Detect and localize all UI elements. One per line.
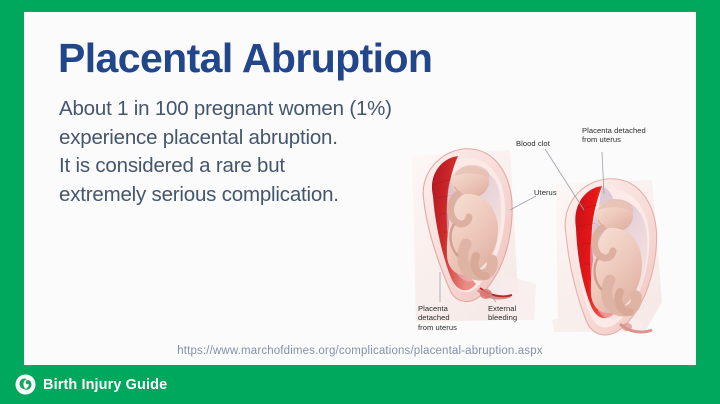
- label-placenta-detached-top: Placenta detached from uterus: [582, 126, 646, 145]
- source-url[interactable]: https://www.marchofdimes.org/complicatio…: [24, 345, 696, 357]
- body-copy: About 1 in 100 pregnant women (1%) exper…: [59, 95, 419, 209]
- brand-name: Birth Injury Guide: [43, 377, 167, 393]
- label-blood-clot: Blood clot: [516, 139, 550, 148]
- figure-right: [552, 179, 662, 335]
- infographic-card: Placental Abruption About 1 in 100 pregn…: [0, 0, 720, 404]
- label-external-bleeding: External bleeding: [488, 304, 517, 323]
- figure-left: [412, 149, 536, 322]
- body-line-4: extremely serious complication.: [59, 181, 419, 210]
- label-uterus: Uterus: [534, 188, 557, 197]
- body-line-1: About 1 in 100 pregnant women (1%): [59, 95, 419, 124]
- birth-injury-guide-logo-icon: [15, 374, 36, 395]
- label-placenta-detached-bottom: Placenta detached from uterus: [418, 304, 457, 332]
- body-line-2: experience placental abruption.: [59, 124, 419, 153]
- page-title: Placental Abruption: [58, 38, 432, 79]
- body-line-3: It is considered a rare but: [59, 152, 419, 181]
- footer-bar: Birth Injury Guide: [0, 365, 720, 404]
- content-card: Placental Abruption About 1 in 100 pregn…: [24, 12, 696, 365]
- medical-illustration: Blood clot Placenta detached from uterus…: [406, 124, 714, 340]
